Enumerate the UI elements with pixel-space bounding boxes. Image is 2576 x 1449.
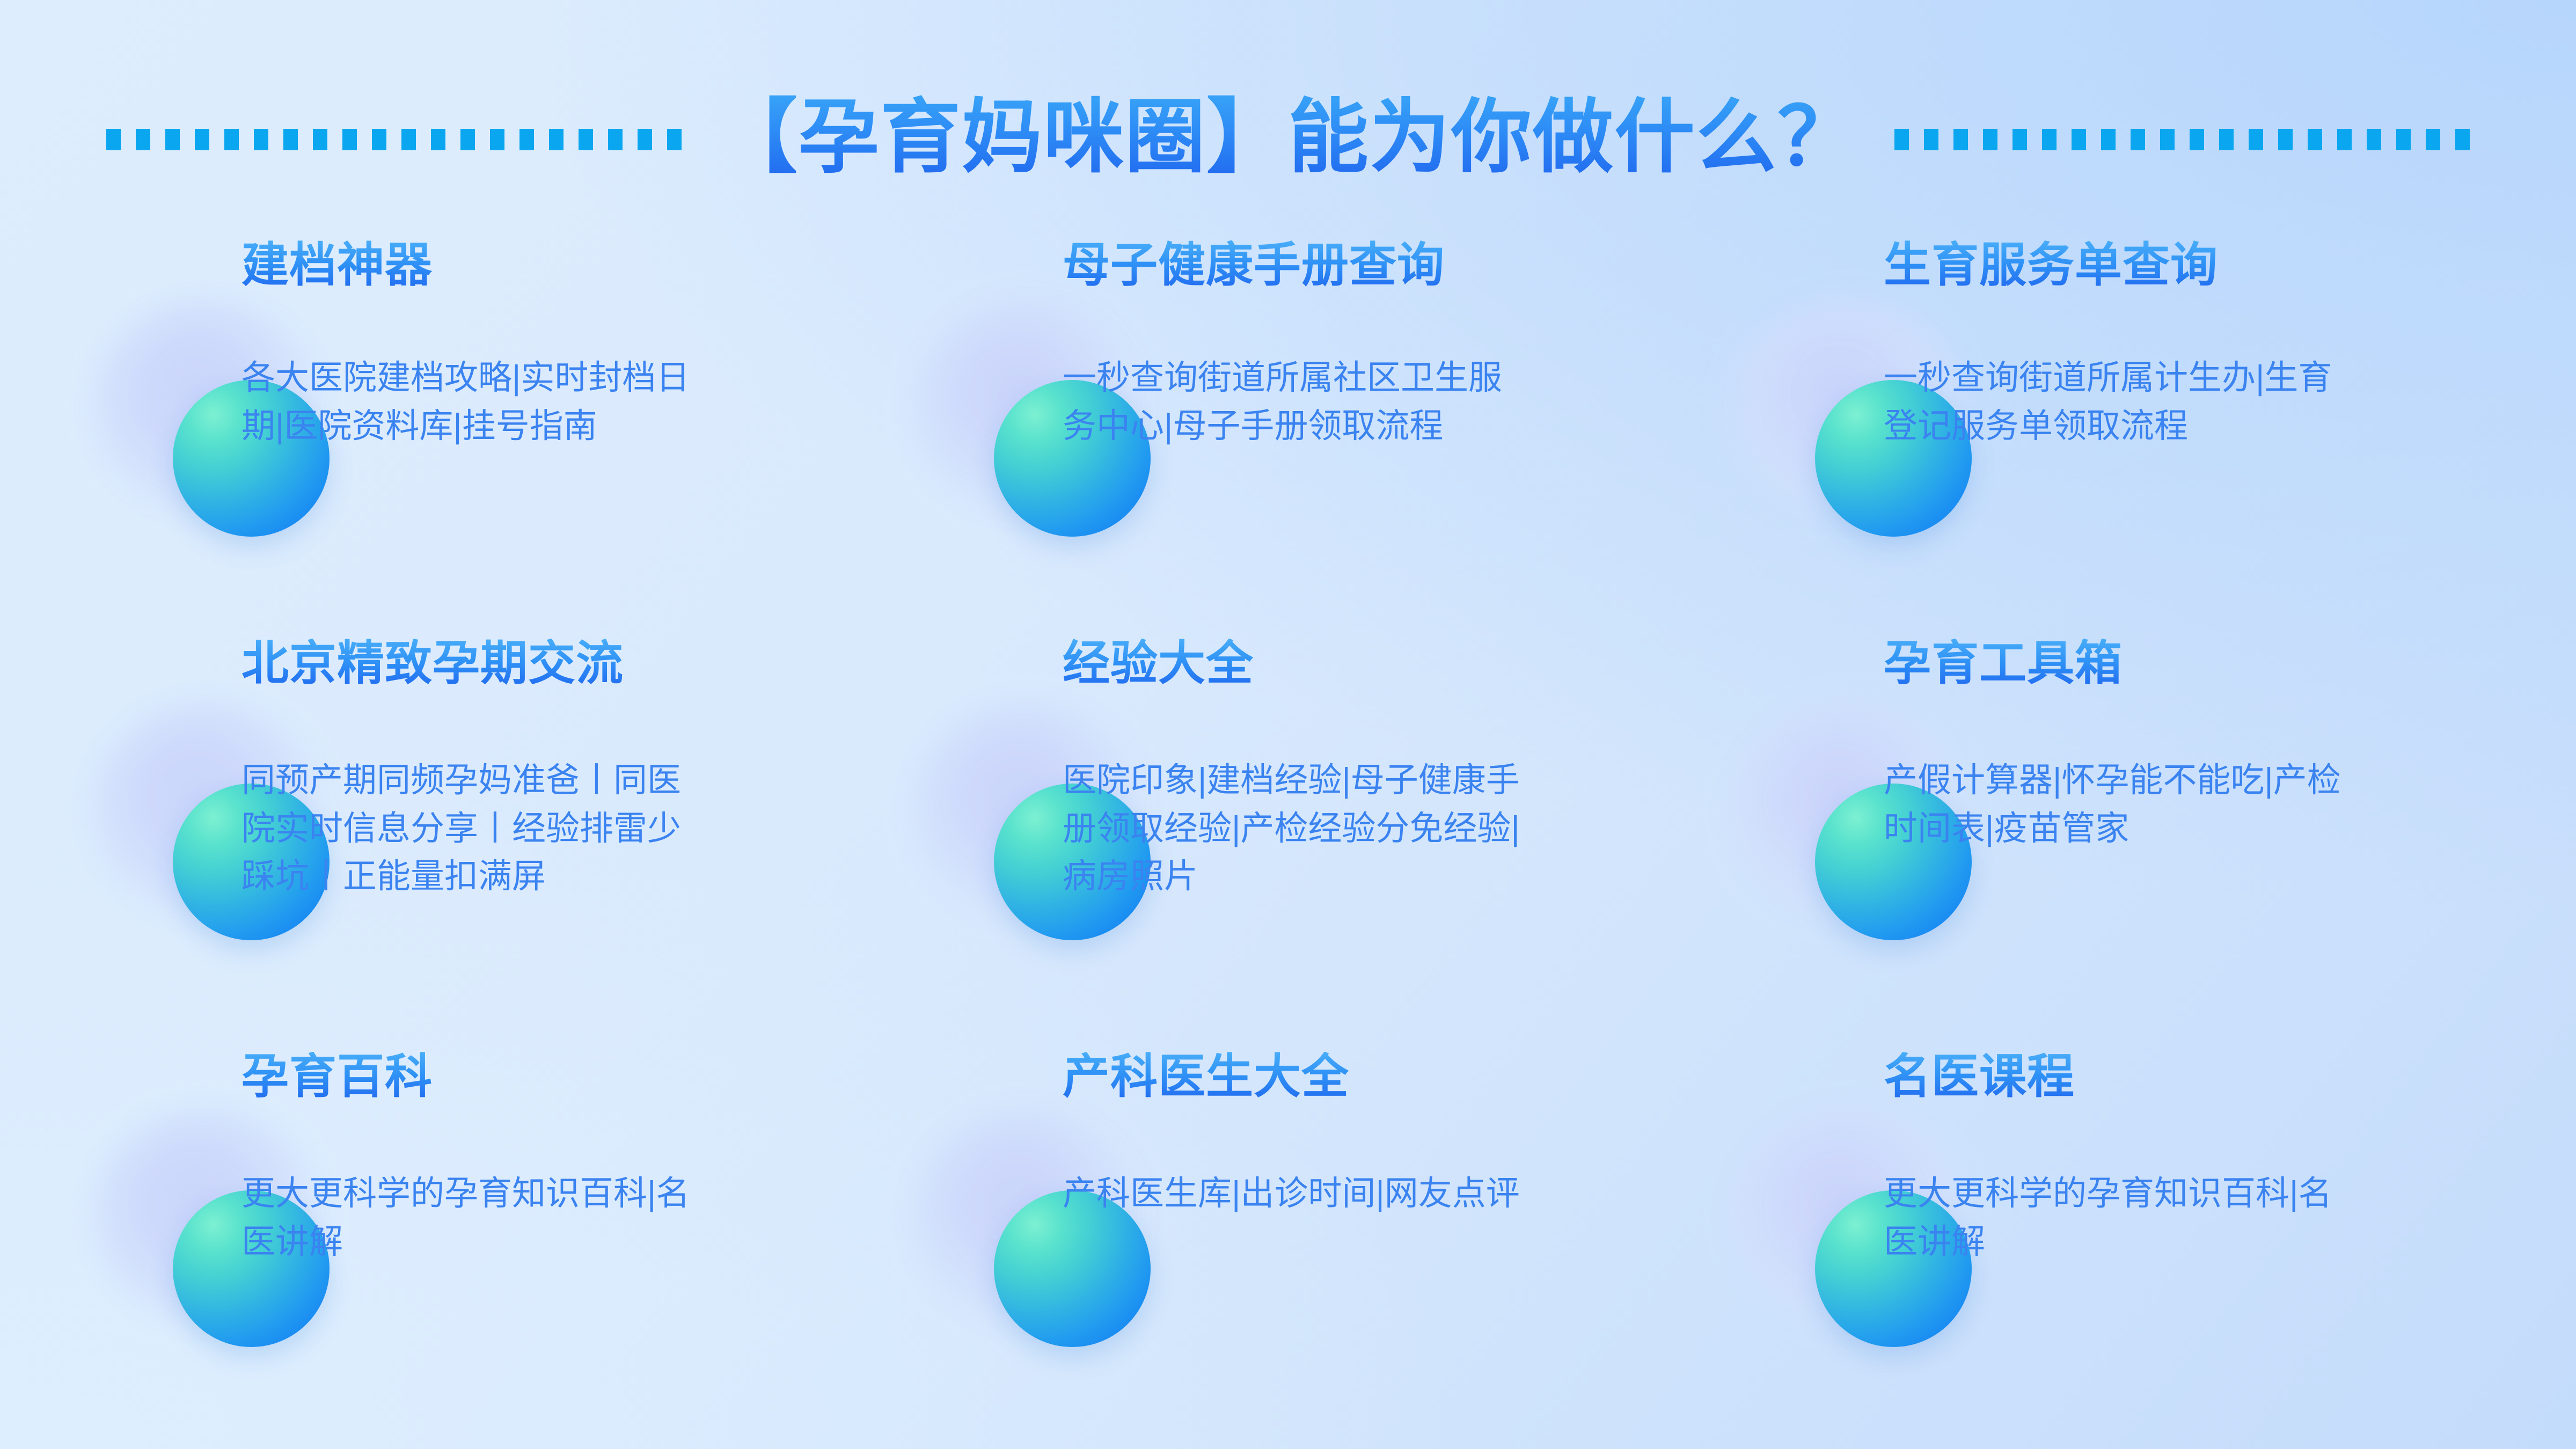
feature-card-description: 产科医生库|出诊时间|网友点评 [1063,1170,1535,1218]
feature-card-description: 更大更科学的孕育知识百科|名医讲解 [1884,1170,2356,1266]
dot-square [106,129,121,150]
dot-square [460,129,475,150]
dot-square [2249,129,2263,150]
feature-card-text: 建档神器各大医院建档攻略|实时封档日期|医院资料库|挂号指南 [241,240,821,450]
dot-square [1953,129,1968,150]
feature-card[interactable]: 孕育工具箱产假计算器|怀孕能不能吃|产检时间表|疫苗管家 [1707,633,2528,1041]
feature-card-grid: 建档神器各大医院建档攻略|实时封档日期|医院资料库|挂号指南母子健康手册查询一秒… [0,236,2576,1449]
feature-card-title: 孕育工具箱 [1884,639,2463,693]
dot-square [283,129,298,150]
dot-square [342,129,357,150]
dotted-rule-left [106,129,682,150]
feature-card-text: 孕育工具箱产假计算器|怀孕能不能吃|产检时间表|疫苗管家 [1884,639,2463,853]
dot-square [313,129,327,150]
feature-card-title: 经验大全 [1063,639,1642,693]
dot-square [2396,129,2411,150]
feature-card-text: 经验大全医院印象|建档经验|母子健康手册领取经验|产检经验分免经验|病房照片 [1063,639,1642,901]
dot-square [2101,129,2116,150]
dot-square [165,129,180,150]
poster-canvas: 【孕育妈咪圈】能为你做什么？ 建档神器各大医院建档攻略|实时封档日期|医院资料库… [0,0,2576,1449]
feature-card[interactable]: 母子健康手册查询一秒查询街道所属社区卫生服务中心|母子手册领取流程 [885,236,1707,633]
dot-square [2131,129,2145,150]
feature-card[interactable]: 名医课程更大更科学的孕育知识百科|名医讲解 [1707,1041,2528,1438]
dot-square [2190,129,2204,150]
feature-card-description: 产假计算器|怀孕能不能吃|产检时间表|疫苗管家 [1884,757,2356,853]
page-title: 【孕育妈咪圈】能为你做什么？ [712,89,1864,190]
feature-card-text: 名医课程更大更科学的孕育知识百科|名医讲解 [1884,1052,2463,1266]
feature-card[interactable]: 产科医生大全产科医生库|出诊时间|网友点评 [885,1041,1707,1438]
feature-card-description: 更大更科学的孕育知识百科|名医讲解 [241,1170,714,1266]
dot-square [431,129,445,150]
feature-card-description: 医院印象|建档经验|母子健康手册领取经验|产检经验分免经验|病房照片 [1063,757,1535,901]
feature-card-title: 生育服务单查询 [1884,240,2463,295]
dot-square [2160,129,2175,150]
feature-card-text: 生育服务单查询一秒查询街道所属计生办|生育登记服务单领取流程 [1884,240,2463,450]
feature-card[interactable]: 孕育百科更大更科学的孕育知识百科|名医讲解 [64,1041,885,1438]
dot-square [2308,129,2322,150]
feature-card-text: 母子健康手册查询一秒查询街道所属社区卫生服务中心|母子手册领取流程 [1063,240,1642,450]
feature-card-description: 一秒查询街道所属社区卫生服务中心|母子手册领取流程 [1063,354,1535,450]
feature-card-text: 北京精致孕期交流同预产期同频孕妈准爸丨同医院实时信息分享丨经验排雷少踩坑丨正能量… [241,639,821,901]
feature-card-title: 建档神器 [241,240,821,295]
feature-card-title: 北京精致孕期交流 [241,639,821,693]
feature-card[interactable]: 经验大全医院印象|建档经验|母子健康手册领取经验|产检经验分免经验|病房照片 [885,633,1707,1041]
feature-card-description: 同预产期同频孕妈准爸丨同医院实时信息分享丨经验排雷少踩坑丨正能量扣满屏 [241,757,714,901]
feature-card[interactable]: 生育服务单查询一秒查询街道所属计生办|生育登记服务单领取流程 [1707,236,2528,633]
feature-card-text: 产科医生大全产科医生库|出诊时间|网友点评 [1063,1052,1642,1218]
feature-card-title: 母子健康手册查询 [1063,240,1642,295]
dot-square [608,129,623,150]
dot-square [2367,129,2381,150]
dot-square [1983,129,1997,150]
dot-square [136,129,150,150]
dot-square [254,129,268,150]
feature-card-description: 各大医院建档攻略|实时封档日期|医院资料库|挂号指南 [241,354,714,450]
feature-card[interactable]: 建档神器各大医院建档攻略|实时封档日期|医院资料库|挂号指南 [64,236,885,633]
feature-card-description: 一秒查询街道所属计生办|生育登记服务单领取流程 [1884,354,2356,450]
dot-square [2012,129,2027,150]
dotted-rule-right [1894,129,2470,150]
dot-square [638,129,652,150]
dot-square [195,129,209,150]
feature-card-title: 名医课程 [1884,1052,2463,1107]
dot-square [224,129,239,150]
dot-square [490,129,504,150]
feature-card[interactable]: 北京精致孕期交流同预产期同频孕妈准爸丨同医院实时信息分享丨经验排雷少踩坑丨正能量… [64,633,885,1041]
poster-header: 【孕育妈咪圈】能为你做什么？ [0,70,2576,209]
dot-square [579,129,593,150]
dot-square [2455,129,2470,150]
dot-square [1924,129,1938,150]
dot-square [2042,129,2057,150]
feature-card-title: 产科医生大全 [1063,1052,1642,1107]
dot-square [2337,129,2352,150]
dot-square [1894,129,1909,150]
dot-square [549,129,563,150]
dot-square [2072,129,2086,150]
dot-square [519,129,534,150]
dot-square [2278,129,2293,150]
dot-square [2426,129,2440,150]
dot-square [2219,129,2234,150]
dot-square [401,129,416,150]
feature-card-title: 孕育百科 [241,1052,821,1107]
dot-square [667,129,682,150]
dot-square [372,129,386,150]
feature-card-text: 孕育百科更大更科学的孕育知识百科|名医讲解 [241,1052,821,1266]
